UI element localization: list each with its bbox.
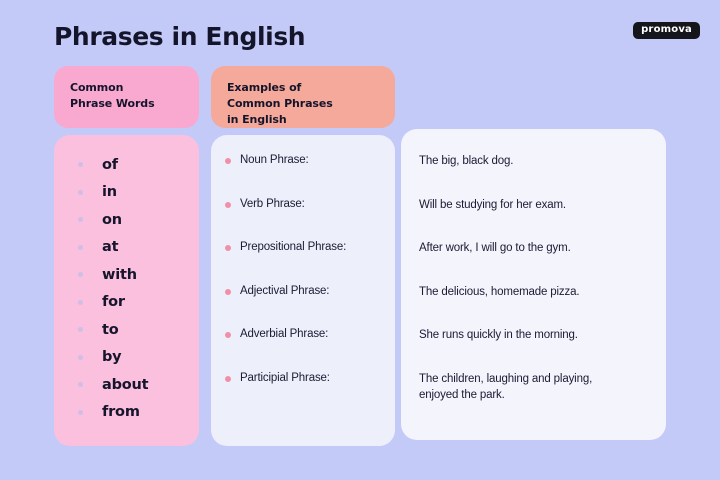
bullet-icon (78, 190, 83, 195)
phrase-word-label: from (102, 404, 140, 420)
bullet-icon (78, 245, 83, 250)
example-sentence: She runs quickly in the morning. (419, 327, 634, 344)
card-body-phrase-types: Noun Phrase: Verb Phrase: Prepositional … (211, 135, 395, 446)
card-body-example-sentences: The big, black dog. Will be studying for… (401, 129, 666, 440)
phrase-words-list: of in on at with (64, 151, 189, 426)
list-item: Noun Phrase: (225, 153, 381, 197)
card-header-line-1: Examples of (227, 80, 379, 96)
card-header-line-2: Phrase Words (70, 96, 183, 112)
promova-logo: promova (633, 22, 700, 39)
bullet-icon (78, 410, 83, 415)
phrase-word-label: on (102, 212, 122, 228)
list-item: Adjectival Phrase: (225, 284, 381, 328)
card-header-common-phrase-words: Common Phrase Words (54, 66, 199, 128)
example-sentences-list: The big, black dog. Will be studying for… (419, 153, 648, 414)
bullet-icon (78, 272, 83, 277)
example-sentence: The big, black dog. (419, 153, 634, 170)
phrase-types-list: Noun Phrase: Verb Phrase: Prepositional … (225, 153, 381, 414)
phrase-type-label: Noun Phrase: (240, 153, 309, 168)
phrase-word-label: to (102, 322, 119, 338)
header-spacer (401, 66, 666, 129)
bullet-icon (78, 300, 83, 305)
phrase-type-label: Participial Phrase: (240, 371, 330, 386)
phrase-type-label: Adverbial Phrase: (240, 327, 328, 342)
phrase-word-label: about (102, 377, 148, 393)
bullet-icon (225, 202, 231, 208)
bullet-icon (225, 289, 231, 295)
list-item: at (64, 234, 189, 262)
column-example-sentences: The big, black dog. Will be studying for… (401, 66, 666, 440)
infographic-canvas: promova Phrases in English Common Phrase… (0, 0, 720, 480)
column-phrase-types: Examples of Common Phrases in English No… (211, 66, 395, 446)
bullet-icon (78, 162, 83, 167)
phrase-word-label: of (102, 157, 118, 173)
list-item: by (64, 344, 189, 372)
example-sentence: The delicious, homemade pizza. (419, 284, 634, 301)
list-item: After work, I will go to the gym. (419, 240, 648, 284)
phrase-word-label: for (102, 294, 125, 310)
phrase-word-label: at (102, 239, 118, 255)
list-item: in (64, 179, 189, 207)
card-body-common-phrase-words: of in on at with (54, 135, 199, 446)
list-item: Participial Phrase: (225, 371, 381, 415)
card-header-line-3: in English (227, 112, 379, 128)
list-item: to (64, 316, 189, 344)
bullet-icon (225, 376, 231, 382)
example-sentence: The children, laughing and playing, enjo… (419, 371, 634, 404)
list-item: about (64, 371, 189, 399)
list-item: She runs quickly in the morning. (419, 327, 648, 371)
example-sentence: After work, I will go to the gym. (419, 240, 634, 257)
list-item: Adverbial Phrase: (225, 327, 381, 371)
bullet-icon (78, 355, 83, 360)
card-header-line-1: Common (70, 80, 183, 96)
bullet-icon (225, 245, 231, 251)
list-item: on (64, 206, 189, 234)
bullet-icon (78, 327, 83, 332)
list-item: Will be studying for her exam. (419, 197, 648, 241)
list-item: Prepositional Phrase: (225, 240, 381, 284)
phrase-type-label: Prepositional Phrase: (240, 240, 346, 255)
list-item: with (64, 261, 189, 289)
column-common-phrase-words: Common Phrase Words of in on a (54, 66, 199, 446)
list-item: Verb Phrase: (225, 197, 381, 241)
phrase-word-label: with (102, 267, 137, 283)
page-title: Phrases in English (54, 22, 305, 51)
bullet-icon (78, 382, 83, 387)
list-item: The children, laughing and playing, enjo… (419, 371, 648, 415)
card-header-line-2: Common Phrases (227, 96, 379, 112)
list-item: of (64, 151, 189, 179)
phrase-type-label: Adjectival Phrase: (240, 284, 329, 299)
phrase-word-label: in (102, 184, 117, 200)
list-item: The delicious, homemade pizza. (419, 284, 648, 328)
card-header-examples: Examples of Common Phrases in English (211, 66, 395, 128)
list-item: for (64, 289, 189, 317)
list-item: The big, black dog. (419, 153, 648, 197)
bullet-icon (225, 158, 231, 164)
list-item: from (64, 399, 189, 427)
bullet-icon (78, 217, 83, 222)
bullet-icon (225, 332, 231, 338)
phrase-word-label: by (102, 349, 121, 365)
phrase-type-label: Verb Phrase: (240, 197, 305, 212)
example-sentence: Will be studying for her exam. (419, 197, 634, 214)
